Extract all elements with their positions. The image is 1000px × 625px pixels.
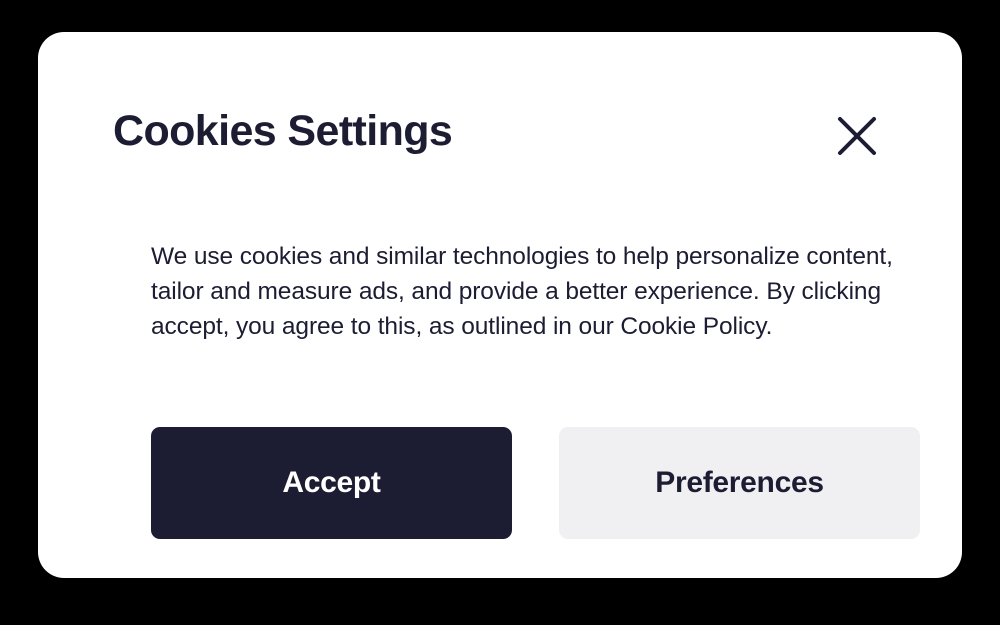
close-button[interactable] bbox=[834, 113, 880, 159]
dialog-actions: Accept Preferences bbox=[151, 427, 920, 539]
accept-button[interactable]: Accept bbox=[151, 427, 512, 539]
screen-backdrop: Cookies Settings We use cookies and simi… bbox=[0, 0, 1000, 625]
page-title: Cookies Settings bbox=[113, 104, 452, 158]
preferences-button[interactable]: Preferences bbox=[559, 427, 920, 539]
dialog-body: We use cookies and similar technologies … bbox=[151, 239, 935, 344]
close-icon bbox=[837, 116, 877, 156]
cookies-settings-dialog: Cookies Settings We use cookies and simi… bbox=[38, 32, 962, 578]
cookie-policy-description: We use cookies and similar technologies … bbox=[151, 239, 935, 344]
dialog-header: Cookies Settings bbox=[113, 104, 902, 174]
